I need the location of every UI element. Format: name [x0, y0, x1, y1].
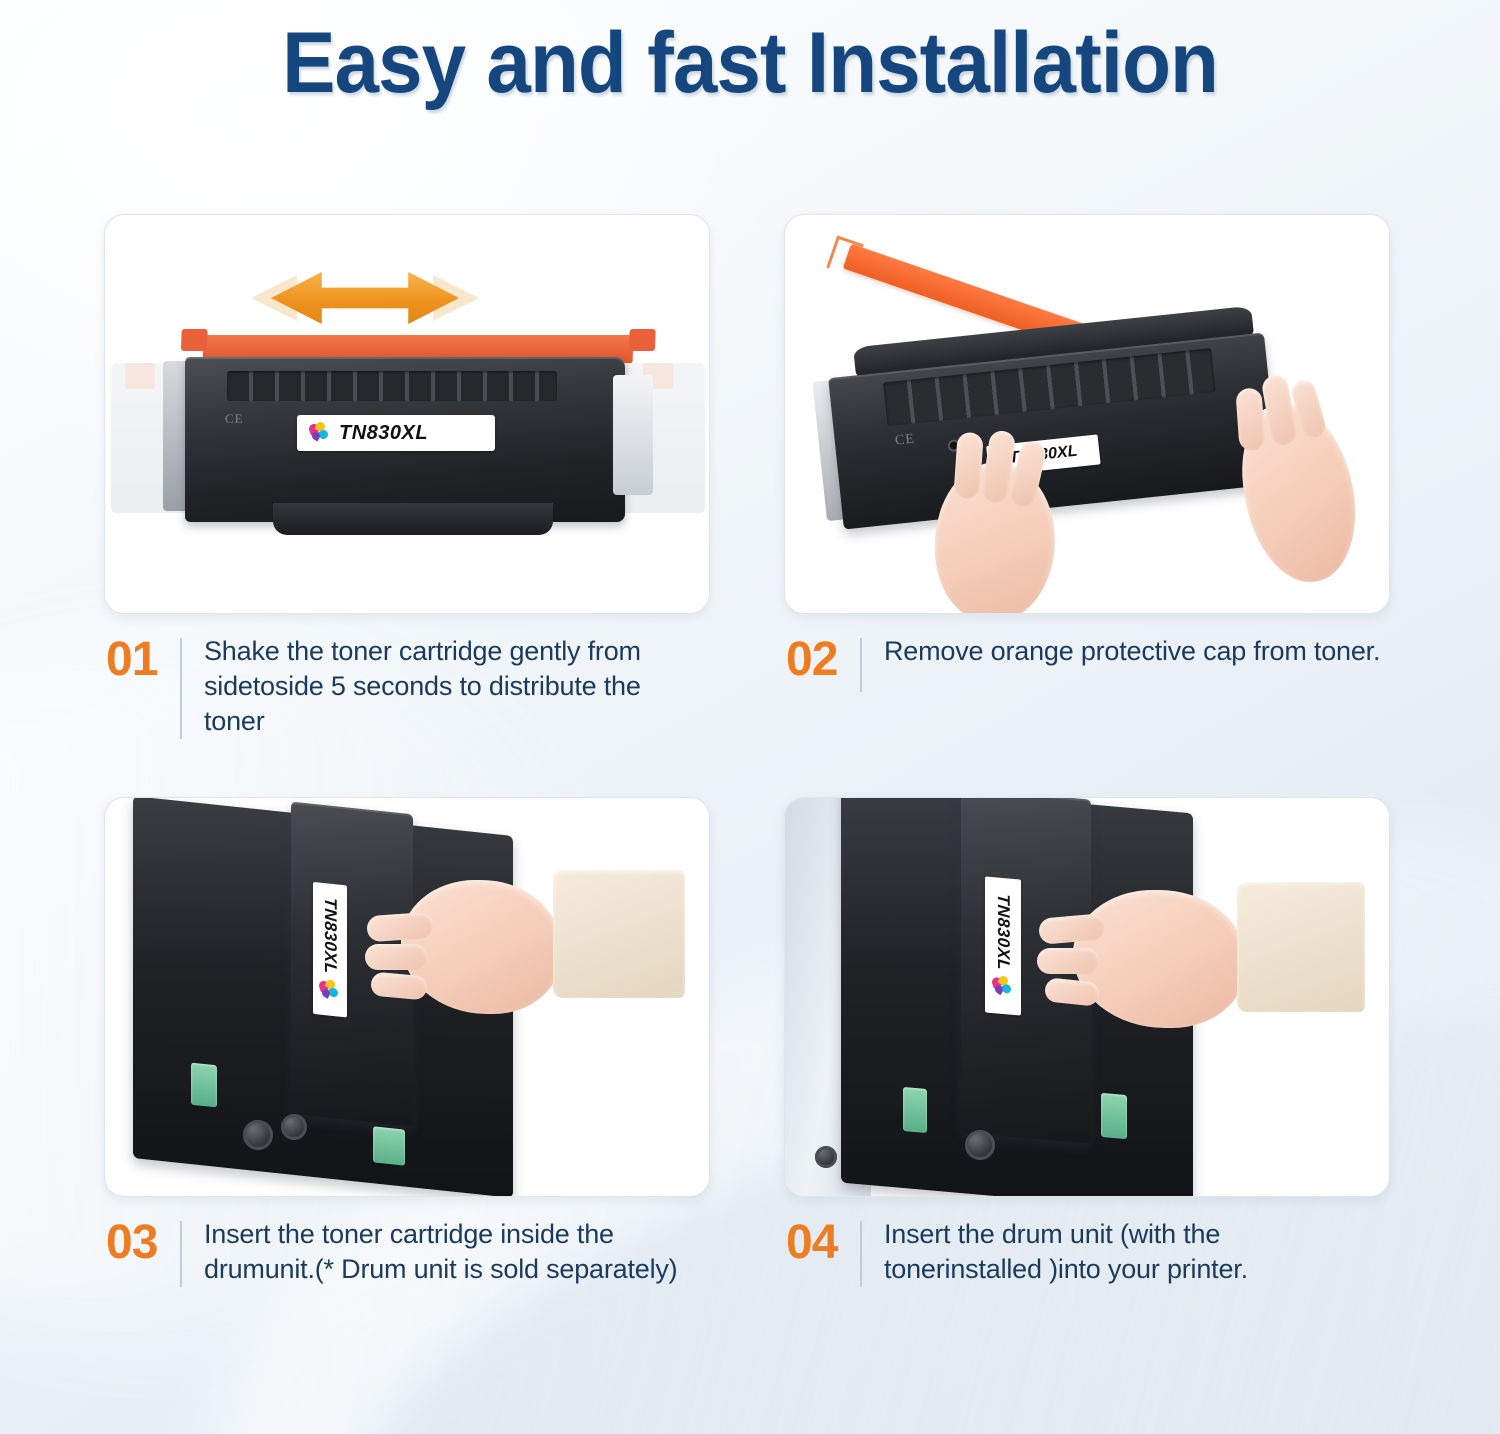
step-03-image: TN830XL — [104, 797, 710, 1197]
caption-divider — [180, 638, 182, 739]
step-03: TN830XL 03 — [104, 797, 710, 1287]
step-01-caption: 01 Shake the toner cartridge gently from… — [104, 634, 710, 739]
finger — [1235, 387, 1265, 451]
finger — [1260, 373, 1298, 446]
step-03-caption: 03 Insert the toner cartridge inside the… — [104, 1217, 710, 1287]
finger — [1037, 948, 1099, 974]
ce-mark-icon: CE — [225, 411, 244, 427]
splash-logo-icon — [309, 422, 331, 444]
finger — [370, 972, 428, 1001]
step-description: Remove orange protective cap from toner. — [884, 634, 1380, 669]
infographic-page: Easy and fast Installation — [0, 0, 1500, 1434]
cartridge-right-endcap — [613, 375, 653, 495]
step-04: TN830XL 04 — [784, 797, 1390, 1287]
ce-mark-icon: CE — [894, 432, 915, 450]
step-description: Insert the toner cartridge inside the dr… — [204, 1217, 704, 1287]
finger — [1038, 913, 1106, 945]
drum-gear-icon — [281, 1114, 307, 1140]
step-description: Shake the toner cartridge gently from si… — [204, 634, 704, 739]
sleeve — [1237, 882, 1365, 1012]
cap-tab — [181, 329, 208, 351]
steps-grid: CE TN830XL 01 Shake the toner c — [104, 214, 1390, 1287]
cartridge-model-text: TN830XL — [320, 897, 340, 975]
step-01-image: CE TN830XL — [104, 214, 710, 614]
ghost-tab — [125, 363, 155, 389]
step-description: Insert the drum unit (with the tonerinst… — [884, 1217, 1384, 1287]
green-lever-icon — [903, 1087, 927, 1133]
splash-logo-icon — [992, 975, 1014, 999]
step-02: CE TN830XL — [784, 214, 1390, 739]
step-01: CE TN830XL 01 Shake the toner c — [104, 214, 710, 739]
cartridge-model-text: TN830XL — [339, 422, 428, 445]
cartridge-model-text: TN830XL — [993, 893, 1013, 971]
cartridge-label: TN830XL — [985, 876, 1021, 1015]
step-02-image: CE TN830XL — [784, 214, 1390, 614]
step-02-caption: 02 Remove orange protective cap from ton… — [784, 634, 1390, 692]
finger — [366, 912, 434, 943]
double-arrow-icon — [255, 267, 475, 329]
finger — [365, 944, 427, 970]
sleeve — [553, 870, 685, 998]
toner-cartridge: CE TN830XL — [163, 335, 653, 550]
drum-gear-icon — [965, 1130, 995, 1160]
splash-logo-icon — [319, 979, 341, 1003]
green-lever-icon — [1101, 1093, 1127, 1139]
caption-divider — [860, 638, 862, 692]
cap-tab — [629, 329, 656, 351]
page-title: Easy and fast Installation — [53, 14, 1448, 113]
step-04-image: TN830XL — [784, 797, 1390, 1197]
step-number: 04 — [786, 1217, 860, 1269]
green-lever-icon — [191, 1063, 217, 1108]
cartridge-label: TN830XL — [297, 415, 495, 451]
caption-divider — [180, 1221, 182, 1287]
drum-gear-icon — [243, 1120, 273, 1150]
cartridge-body: CE TN830XL — [185, 357, 625, 522]
cartridge-base — [273, 503, 553, 535]
step-number: 02 — [786, 634, 860, 686]
hand-right — [1230, 395, 1368, 591]
finger — [953, 432, 984, 500]
green-lever-icon — [373, 1126, 405, 1165]
cartridge-label: TN830XL — [313, 882, 347, 1018]
step-number: 03 — [106, 1217, 180, 1269]
cartridge-vents — [227, 371, 557, 401]
step-number: 01 — [106, 634, 180, 686]
hand-right — [401, 880, 561, 1014]
drum-gear-icon — [815, 1146, 837, 1168]
toner-cartridge: CE TN830XL — [809, 303, 1298, 561]
shake-arrow — [271, 272, 459, 324]
caption-divider — [860, 1221, 862, 1287]
step-04-caption: 04 Insert the drum unit (with the toneri… — [784, 1217, 1390, 1287]
